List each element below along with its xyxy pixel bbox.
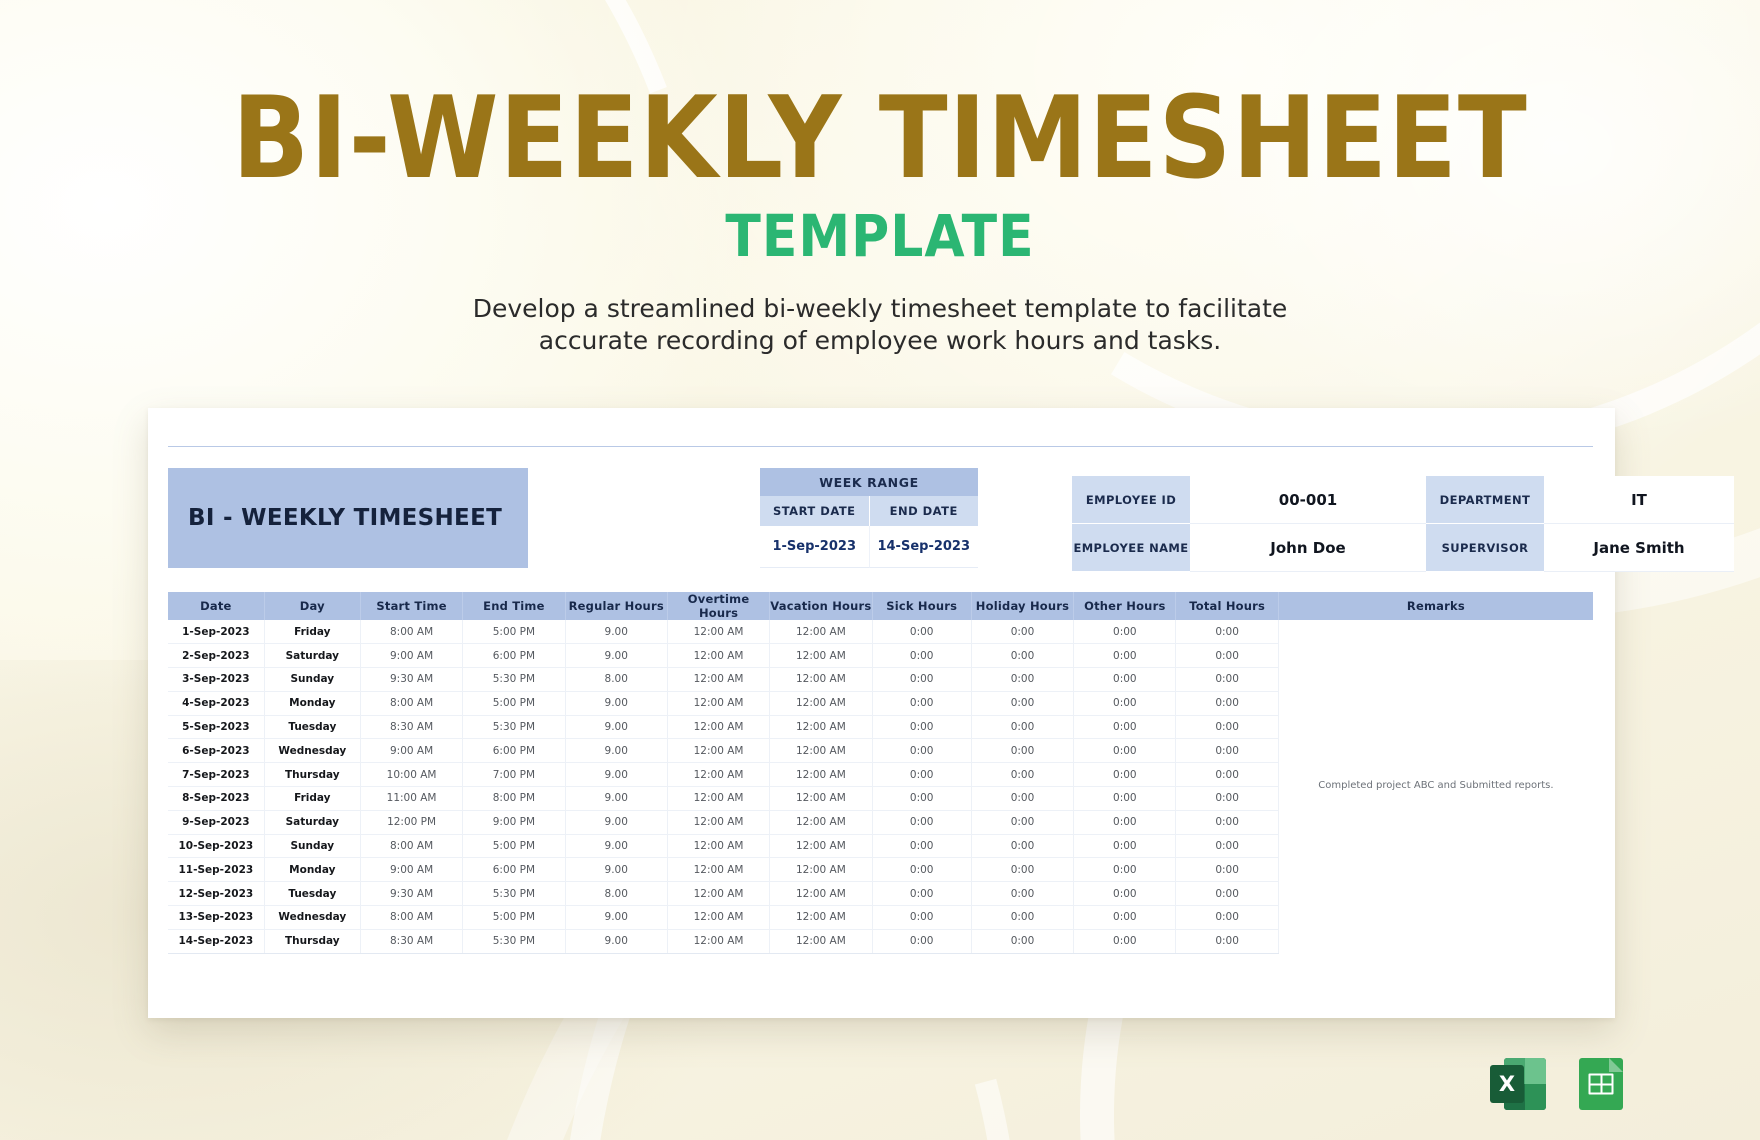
column-header-regular-hours[interactable]: Regular Hours [565, 592, 667, 620]
google-sheets-icon-fold [1609, 1058, 1623, 1072]
cell-sick-hours[interactable]: 0:00 [872, 810, 971, 834]
cell-regular-hours[interactable]: 9.00 [565, 787, 667, 811]
cell-vacation-hours[interactable]: 12:00 AM [770, 644, 872, 668]
cell-end-time[interactable]: 5:30 PM [463, 882, 565, 906]
cell-day[interactable]: Sunday [264, 668, 360, 692]
cell-other-hours[interactable]: 0:00 [1074, 691, 1176, 715]
cell-end-time[interactable]: 5:30 PM [463, 668, 565, 692]
cell-vacation-hours[interactable]: 12:00 AM [770, 620, 872, 644]
cell-vacation-hours[interactable]: 12:00 AM [770, 715, 872, 739]
supervisor-value[interactable]: Jane Smith [1544, 524, 1734, 572]
cell-overtime-hours[interactable]: 12:00 AM [667, 906, 769, 930]
week-range-box: WEEK RANGE START DATE END DATE 1-Sep-202… [760, 468, 978, 568]
cell-other-hours[interactable]: 0:00 [1074, 644, 1176, 668]
cell-vacation-hours[interactable]: 12:00 AM [770, 858, 872, 882]
cell-date[interactable]: 10-Sep-2023 [168, 834, 264, 858]
cell-holiday-hours[interactable]: 0:00 [971, 929, 1073, 953]
page-title: BI-WEEKLY TIMESHEET [0, 82, 1760, 195]
timesheet-table: DateDayStart TimeEnd TimeRegular HoursOv… [168, 592, 1593, 954]
cell-remarks[interactable]: Completed project ABC and Submitted repo… [1278, 620, 1593, 953]
cell-overtime-hours[interactable]: 12:00 AM [667, 834, 769, 858]
cell-overtime-hours[interactable]: 12:00 AM [667, 787, 769, 811]
cell-day[interactable]: Tuesday [264, 715, 360, 739]
cell-total-hours[interactable]: 0:00 [1176, 882, 1278, 906]
start-date-value[interactable]: 1-Sep-2023 [760, 526, 869, 568]
cell-sick-hours[interactable]: 0:00 [872, 644, 971, 668]
cell-holiday-hours[interactable]: 0:00 [971, 715, 1073, 739]
end-date-label: END DATE [869, 496, 979, 526]
employee-info-grid: EMPLOYEE ID 00-001 DEPARTMENT IT EMPLOYE… [1072, 476, 1593, 572]
cell-sick-hours[interactable]: 0:00 [872, 691, 971, 715]
cell-start-time[interactable]: 8:00 AM [360, 691, 462, 715]
cell-sick-hours[interactable]: 0:00 [872, 906, 971, 930]
cell-sick-hours[interactable]: 0:00 [872, 882, 971, 906]
cell-other-hours[interactable]: 0:00 [1074, 763, 1176, 787]
cell-vacation-hours[interactable]: 12:00 AM [770, 882, 872, 906]
excel-icon-glyph: X [1490, 1065, 1524, 1103]
cell-day[interactable]: Thursday [264, 763, 360, 787]
cell-start-time[interactable]: 11:00 AM [360, 787, 462, 811]
cell-overtime-hours[interactable]: 12:00 AM [667, 882, 769, 906]
column-header-date[interactable]: Date [168, 592, 264, 620]
employee-id-label: EMPLOYEE ID [1072, 476, 1190, 524]
google-sheets-icon-grid [1589, 1074, 1614, 1095]
cell-total-hours[interactable]: 0:00 [1176, 668, 1278, 692]
cell-holiday-hours[interactable]: 0:00 [971, 644, 1073, 668]
department-label: DEPARTMENT [1426, 476, 1544, 524]
excel-icon[interactable]: X [1490, 1056, 1546, 1112]
cell-start-time[interactable]: 9:00 AM [360, 858, 462, 882]
sheet-title-label: BI - WEEKLY TIMESHEET [188, 505, 502, 531]
cell-total-hours[interactable]: 0:00 [1176, 739, 1278, 763]
cell-regular-hours[interactable]: 9.00 [565, 691, 667, 715]
column-header-holiday-hours[interactable]: Holiday Hours [971, 592, 1073, 620]
cell-regular-hours[interactable]: 9.00 [565, 929, 667, 953]
cell-total-hours[interactable]: 0:00 [1176, 691, 1278, 715]
app-icon-group: X [1490, 1056, 1628, 1112]
cell-total-hours[interactable]: 0:00 [1176, 858, 1278, 882]
column-header-start-time[interactable]: Start Time [360, 592, 462, 620]
cell-total-hours[interactable]: 0:00 [1176, 644, 1278, 668]
info-band: BI - WEEKLY TIMESHEET WEEK RANGE START D… [168, 468, 1593, 568]
tagline-line-2: accurate recording of employee work hour… [0, 325, 1760, 357]
cell-vacation-hours[interactable]: 12:00 AM [770, 668, 872, 692]
cell-date[interactable]: 7-Sep-2023 [168, 763, 264, 787]
cell-day[interactable]: Thursday [264, 929, 360, 953]
cell-day[interactable]: Wednesday [264, 739, 360, 763]
cell-total-hours[interactable]: 0:00 [1176, 906, 1278, 930]
cell-date[interactable]: 14-Sep-2023 [168, 929, 264, 953]
cell-regular-hours[interactable]: 9.00 [565, 834, 667, 858]
cell-vacation-hours[interactable]: 12:00 AM [770, 691, 872, 715]
employee-name-value[interactable]: John Doe [1190, 524, 1426, 572]
cell-end-time[interactable]: 5:00 PM [463, 691, 565, 715]
cell-vacation-hours[interactable]: 12:00 AM [770, 834, 872, 858]
cell-regular-hours[interactable]: 9.00 [565, 906, 667, 930]
cell-start-time[interactable]: 10:00 AM [360, 763, 462, 787]
cell-date[interactable]: 9-Sep-2023 [168, 810, 264, 834]
cell-sick-hours[interactable]: 0:00 [872, 763, 971, 787]
supervisor-label: SUPERVISOR [1426, 524, 1544, 572]
cell-vacation-hours[interactable]: 12:00 AM [770, 739, 872, 763]
cell-vacation-hours[interactable]: 12:00 AM [770, 787, 872, 811]
cell-end-time[interactable]: 9:00 PM [463, 810, 565, 834]
cell-end-time[interactable]: 8:00 PM [463, 787, 565, 811]
cell-overtime-hours[interactable]: 12:00 AM [667, 763, 769, 787]
cell-day[interactable]: Tuesday [264, 882, 360, 906]
cell-day[interactable]: Friday [264, 787, 360, 811]
column-header-day[interactable]: Day [264, 592, 360, 620]
cell-holiday-hours[interactable]: 0:00 [971, 668, 1073, 692]
cell-other-hours[interactable]: 0:00 [1074, 787, 1176, 811]
cell-start-time[interactable]: 8:30 AM [360, 929, 462, 953]
cell-date[interactable]: 2-Sep-2023 [168, 644, 264, 668]
cell-total-hours[interactable]: 0:00 [1176, 810, 1278, 834]
cell-date[interactable]: 12-Sep-2023 [168, 882, 264, 906]
cell-overtime-hours[interactable]: 12:00 AM [667, 668, 769, 692]
column-header-end-time[interactable]: End Time [463, 592, 565, 620]
cell-regular-hours[interactable]: 9.00 [565, 763, 667, 787]
cell-holiday-hours[interactable]: 0:00 [971, 620, 1073, 644]
cell-vacation-hours[interactable]: 12:00 AM [770, 929, 872, 953]
cell-sick-hours[interactable]: 0:00 [872, 668, 971, 692]
cell-other-hours[interactable]: 0:00 [1074, 668, 1176, 692]
cell-holiday-hours[interactable]: 0:00 [971, 787, 1073, 811]
cell-vacation-hours[interactable]: 12:00 AM [770, 906, 872, 930]
cell-date[interactable]: 6-Sep-2023 [168, 739, 264, 763]
cell-sick-hours[interactable]: 0:00 [872, 834, 971, 858]
cell-holiday-hours[interactable]: 0:00 [971, 834, 1073, 858]
cell-start-time[interactable]: 9:30 AM [360, 882, 462, 906]
page-tagline: Develop a streamlined bi-weekly timeshee… [0, 293, 1760, 357]
employee-id-value[interactable]: 00-001 [1190, 476, 1426, 524]
cell-day[interactable]: Monday [264, 858, 360, 882]
cell-regular-hours[interactable]: 9.00 [565, 715, 667, 739]
column-header-overtime-hours[interactable]: Overtime Hours [667, 592, 769, 620]
cell-total-hours[interactable]: 0:00 [1176, 620, 1278, 644]
cell-total-hours[interactable]: 0:00 [1176, 763, 1278, 787]
cell-start-time[interactable]: 12:00 PM [360, 810, 462, 834]
cell-end-time[interactable]: 5:00 PM [463, 834, 565, 858]
cell-day[interactable]: Saturday [264, 810, 360, 834]
cell-end-time[interactable]: 6:00 PM [463, 644, 565, 668]
sheet-title-box: BI - WEEKLY TIMESHEET [168, 468, 528, 568]
cell-overtime-hours[interactable]: 12:00 AM [667, 929, 769, 953]
google-sheets-icon[interactable] [1572, 1056, 1628, 1112]
cell-start-time[interactable]: 9:30 AM [360, 668, 462, 692]
spreadsheet-card: BI - WEEKLY TIMESHEET WEEK RANGE START D… [148, 408, 1615, 1018]
cell-date[interactable]: 13-Sep-2023 [168, 906, 264, 930]
cell-other-hours[interactable]: 0:00 [1074, 906, 1176, 930]
cell-regular-hours[interactable]: 9.00 [565, 739, 667, 763]
cell-total-hours[interactable]: 0:00 [1176, 929, 1278, 953]
cell-start-time[interactable]: 9:00 AM [360, 739, 462, 763]
cell-regular-hours[interactable]: 9.00 [565, 644, 667, 668]
table-row: 1-Sep-2023Friday8:00 AM5:00 PM9.0012:00 … [168, 620, 1593, 644]
cell-date[interactable]: 5-Sep-2023 [168, 715, 264, 739]
google-sheets-icon-doc [1579, 1058, 1623, 1110]
cell-start-time[interactable]: 9:00 AM [360, 644, 462, 668]
column-header-other-hours[interactable]: Other Hours [1074, 592, 1176, 620]
cell-end-time[interactable]: 5:00 PM [463, 620, 565, 644]
cell-day[interactable]: Monday [264, 691, 360, 715]
cell-sick-hours[interactable]: 0:00 [872, 620, 971, 644]
cell-date[interactable]: 4-Sep-2023 [168, 691, 264, 715]
tagline-line-1: Develop a streamlined bi-weekly timeshee… [0, 293, 1760, 325]
cell-total-hours[interactable]: 0:00 [1176, 834, 1278, 858]
table-body: 1-Sep-2023Friday8:00 AM5:00 PM9.0012:00 … [168, 620, 1593, 953]
start-date-label: START DATE [760, 496, 869, 526]
column-header-total-hours[interactable]: Total Hours [1176, 592, 1278, 620]
page-subtitle: TEMPLATE [0, 203, 1760, 270]
cell-overtime-hours[interactable]: 12:00 AM [667, 691, 769, 715]
employee-name-label: EMPLOYEE NAME [1072, 524, 1190, 572]
cell-other-hours[interactable]: 0:00 [1074, 858, 1176, 882]
cell-overtime-hours[interactable]: 12:00 AM [667, 810, 769, 834]
cell-other-hours[interactable]: 0:00 [1074, 810, 1176, 834]
cell-holiday-hours[interactable]: 0:00 [971, 810, 1073, 834]
cell-day[interactable]: Saturday [264, 644, 360, 668]
cell-end-time[interactable]: 5:00 PM [463, 906, 565, 930]
cell-end-time[interactable]: 6:00 PM [463, 739, 565, 763]
cell-end-time[interactable]: 6:00 PM [463, 858, 565, 882]
cell-other-hours[interactable]: 0:00 [1074, 929, 1176, 953]
cell-date[interactable]: 11-Sep-2023 [168, 858, 264, 882]
cell-sick-hours[interactable]: 0:00 [872, 715, 971, 739]
cell-regular-hours[interactable]: 9.00 [565, 810, 667, 834]
cell-holiday-hours[interactable]: 0:00 [971, 739, 1073, 763]
cell-total-hours[interactable]: 0:00 [1176, 787, 1278, 811]
cell-regular-hours[interactable]: 9.00 [565, 620, 667, 644]
cell-holiday-hours[interactable]: 0:00 [971, 858, 1073, 882]
week-range-heading: WEEK RANGE [760, 468, 978, 496]
cell-date[interactable]: 3-Sep-2023 [168, 668, 264, 692]
cell-overtime-hours[interactable]: 12:00 AM [667, 620, 769, 644]
cell-day[interactable]: Friday [264, 620, 360, 644]
cell-vacation-hours[interactable]: 12:00 AM [770, 763, 872, 787]
cell-holiday-hours[interactable]: 0:00 [971, 882, 1073, 906]
cell-other-hours[interactable]: 0:00 [1074, 715, 1176, 739]
end-date-value[interactable]: 14-Sep-2023 [869, 526, 979, 568]
cell-overtime-hours[interactable]: 12:00 AM [667, 715, 769, 739]
cell-overtime-hours[interactable]: 12:00 AM [667, 644, 769, 668]
cell-holiday-hours[interactable]: 0:00 [971, 906, 1073, 930]
cell-date[interactable]: 1-Sep-2023 [168, 620, 264, 644]
cell-end-time[interactable]: 5:30 PM [463, 715, 565, 739]
cell-regular-hours[interactable]: 8.00 [565, 668, 667, 692]
top-divider [168, 446, 1593, 447]
cell-day[interactable]: Sunday [264, 834, 360, 858]
cell-day[interactable]: Wednesday [264, 906, 360, 930]
timesheet-table-wrapper: DateDayStart TimeEnd TimeRegular HoursOv… [168, 592, 1593, 954]
cell-other-hours[interactable]: 0:00 [1074, 882, 1176, 906]
page-header: BI-WEEKLY TIMESHEET TEMPLATE Develop a s… [0, 0, 1760, 357]
cell-date[interactable]: 8-Sep-2023 [168, 787, 264, 811]
cell-regular-hours[interactable]: 9.00 [565, 858, 667, 882]
cell-start-time[interactable]: 8:00 AM [360, 906, 462, 930]
cell-sick-hours[interactable]: 0:00 [872, 739, 971, 763]
cell-other-hours[interactable]: 0:00 [1074, 739, 1176, 763]
cell-vacation-hours[interactable]: 12:00 AM [770, 810, 872, 834]
cell-sick-hours[interactable]: 0:00 [872, 929, 971, 953]
cell-holiday-hours[interactable]: 0:00 [971, 691, 1073, 715]
cell-start-time[interactable]: 8:00 AM [360, 834, 462, 858]
cell-holiday-hours[interactable]: 0:00 [971, 763, 1073, 787]
table-header-row: DateDayStart TimeEnd TimeRegular HoursOv… [168, 592, 1593, 620]
cell-start-time[interactable]: 8:00 AM [360, 620, 462, 644]
cell-start-time[interactable]: 8:30 AM [360, 715, 462, 739]
cell-other-hours[interactable]: 0:00 [1074, 834, 1176, 858]
department-value[interactable]: IT [1544, 476, 1734, 524]
cell-overtime-hours[interactable]: 12:00 AM [667, 858, 769, 882]
column-header-vacation-hours[interactable]: Vacation Hours [770, 592, 872, 620]
cell-sick-hours[interactable]: 0:00 [872, 858, 971, 882]
cell-overtime-hours[interactable]: 12:00 AM [667, 739, 769, 763]
cell-total-hours[interactable]: 0:00 [1176, 715, 1278, 739]
cell-end-time[interactable]: 5:30 PM [463, 929, 565, 953]
cell-sick-hours[interactable]: 0:00 [872, 787, 971, 811]
column-header-sick-hours[interactable]: Sick Hours [872, 592, 971, 620]
column-header-remarks[interactable]: Remarks [1278, 592, 1593, 620]
cell-regular-hours[interactable]: 8.00 [565, 882, 667, 906]
cell-end-time[interactable]: 7:00 PM [463, 763, 565, 787]
cell-other-hours[interactable]: 0:00 [1074, 620, 1176, 644]
